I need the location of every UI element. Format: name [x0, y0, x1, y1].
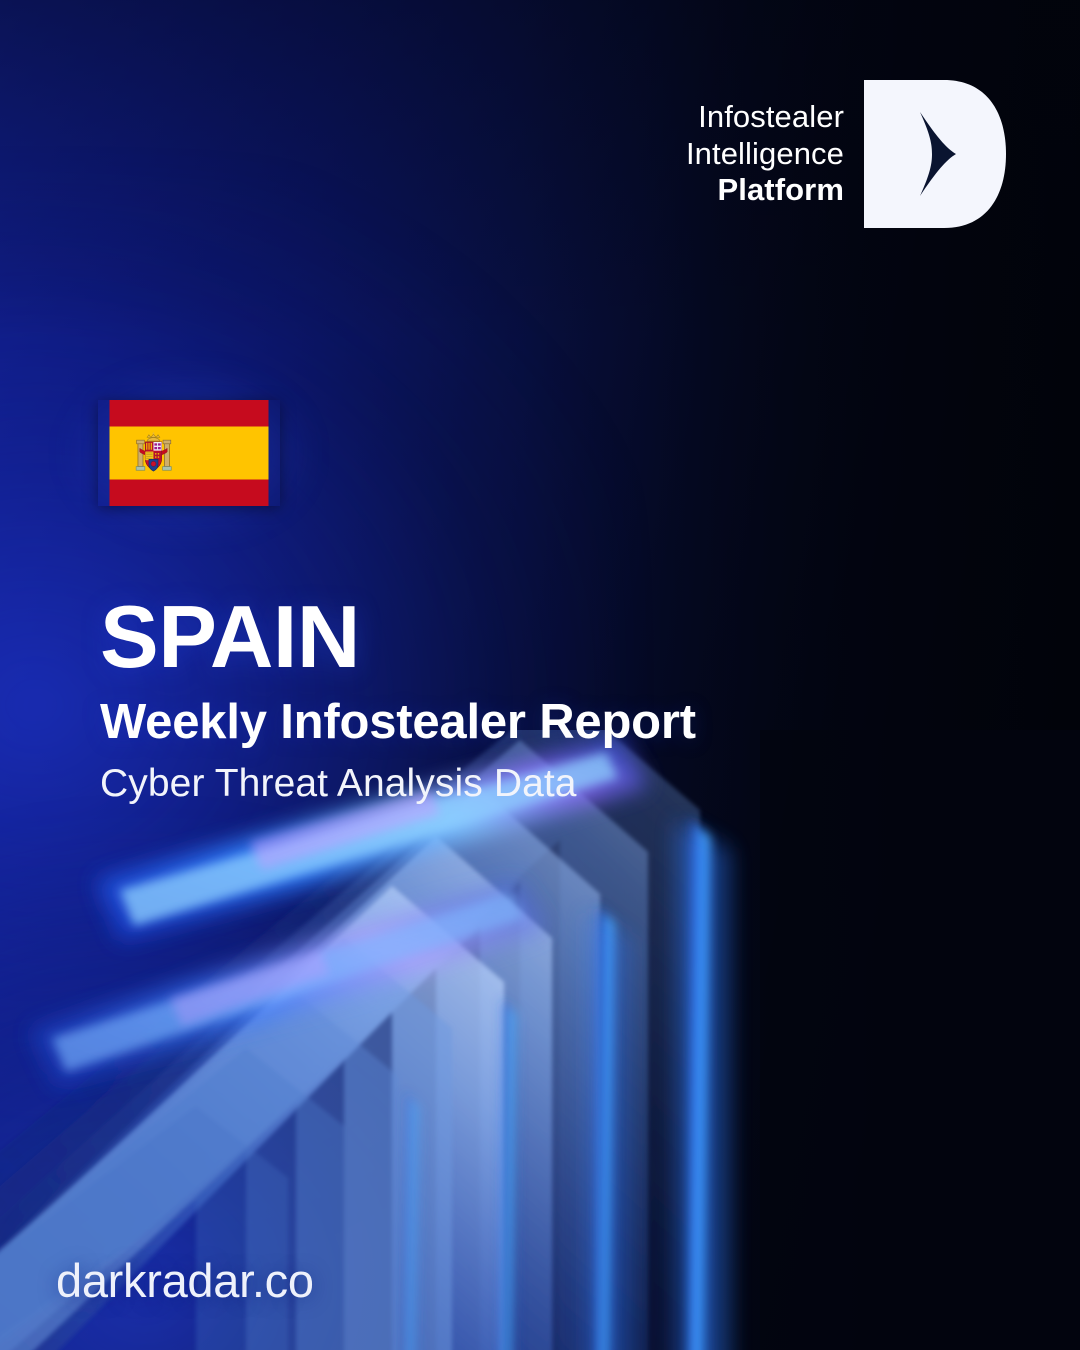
brand-line-intelligence: Intelligence — [686, 136, 844, 173]
brand-header-text: Infostealer Intelligence Platform — [686, 99, 844, 209]
brand-line-platform: Platform — [717, 172, 844, 209]
page-subtitle-report: Weekly Infostealer Report — [100, 697, 1000, 748]
darkradar-logo-icon — [860, 78, 1008, 230]
country-flag — [98, 400, 280, 506]
title-block: SPAIN Weekly Infostealer Report Cyber Th… — [100, 596, 1000, 805]
page-title-country: SPAIN — [100, 596, 1000, 679]
brand-line-infostealer: Infostealer — [698, 99, 844, 136]
poster-canvas: Infostealer Intelligence Platform — [0, 0, 1080, 1350]
footer-website[interactable]: darkradar.co — [56, 1253, 314, 1308]
page-caption-analysis: Cyber Threat Analysis Data — [100, 764, 1000, 805]
flag-spain — [98, 400, 280, 506]
brand-header: Infostealer Intelligence Platform — [686, 78, 1008, 230]
